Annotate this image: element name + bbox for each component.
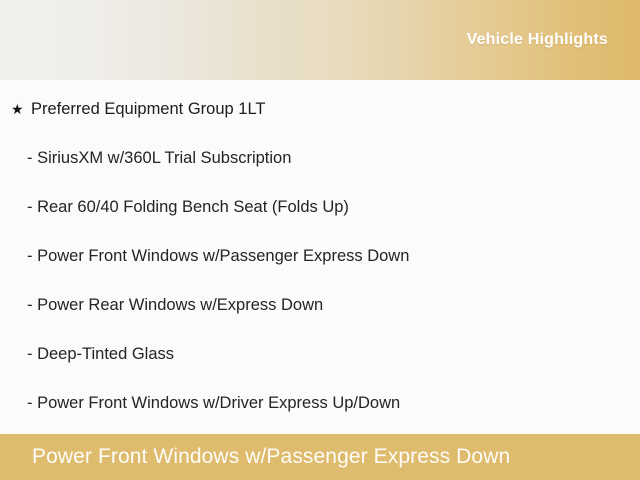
list-item-label: - Deep-Tinted Glass xyxy=(27,343,174,365)
list-item: - Power Front Windows w/Passenger Expres… xyxy=(0,245,640,294)
star-bullet-icon: ★ xyxy=(11,98,31,120)
list-item-label: - Power Rear Windows w/Express Down xyxy=(27,294,323,316)
list-item-label: - Power Front Windows w/Driver Express U… xyxy=(27,392,400,414)
list-item-label: - Power Front Windows w/Passenger Expres… xyxy=(27,245,409,267)
footer-caption-bar: Power Front Windows w/Passenger Express … xyxy=(0,434,640,480)
header-banner: Vehicle Highlights xyxy=(0,0,640,80)
list-item: - SiriusXM w/360L Trial Subscription xyxy=(0,147,640,196)
list-item: - Power Rear Windows w/Express Down xyxy=(0,294,640,343)
highlights-body: ★ Preferred Equipment Group 1LT - Sirius… xyxy=(0,80,640,434)
list-item-label: - Rear 60/40 Folding Bench Seat (Folds U… xyxy=(27,196,349,218)
list-item-label: - SiriusXM w/360L Trial Subscription xyxy=(27,147,291,169)
list-item: - Deep-Tinted Glass xyxy=(0,343,640,392)
list-item: ★ Preferred Equipment Group 1LT xyxy=(0,98,640,147)
list-item-label: Preferred Equipment Group 1LT xyxy=(31,98,265,120)
vehicle-highlights-panel: Vehicle Highlights ★ Preferred Equipment… xyxy=(0,0,640,480)
list-item: - Rear 60/40 Folding Bench Seat (Folds U… xyxy=(0,196,640,245)
list-item: - Power Front Windows w/Driver Express U… xyxy=(0,392,640,434)
footer-caption-label: Power Front Windows w/Passenger Express … xyxy=(32,444,510,470)
page-title: Vehicle Highlights xyxy=(467,30,608,50)
highlights-list: ★ Preferred Equipment Group 1LT - Sirius… xyxy=(0,98,640,434)
